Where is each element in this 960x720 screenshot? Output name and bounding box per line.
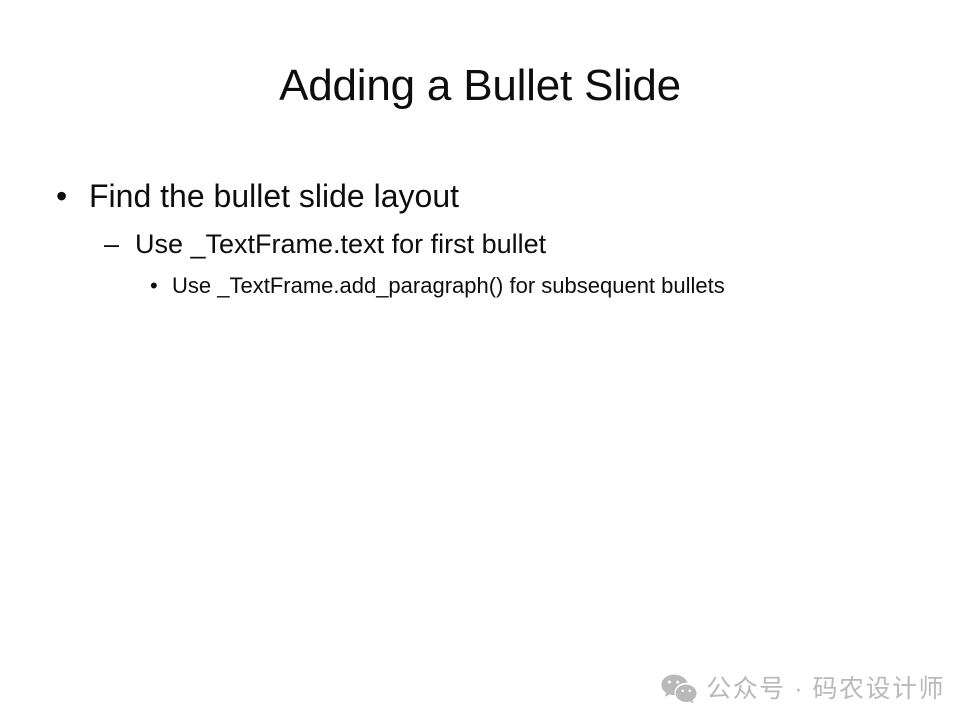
slide-canvas: Adding a Bullet Slide • Find the bullet …	[0, 0, 960, 720]
round-bullet-icon: •	[150, 271, 172, 301]
watermark-label: 公众号 · 码农设计师	[706, 674, 945, 704]
page-title: Adding a Bullet Slide	[60, 58, 900, 114]
list-item-label: Use _TextFrame.add_paragraph() for subse…	[172, 271, 820, 301]
wechat-icon	[661, 674, 697, 704]
dash-bullet-icon: –	[104, 227, 135, 262]
list-item: • Use _TextFrame.add_paragraph() for sub…	[150, 271, 822, 301]
list-item: – Use _TextFrame.text for first bullet	[104, 227, 856, 262]
watermark: 公众号 · 码农设计师	[661, 674, 945, 704]
list-item: • Find the bullet slide layout	[56, 176, 856, 216]
bullet-list: • Find the bullet slide layout – Use _Te…	[56, 176, 856, 301]
list-item-label: Find the bullet slide layout	[89, 176, 856, 216]
round-bullet-icon: •	[56, 176, 89, 216]
list-item-label: Use _TextFrame.text for first bullet	[135, 227, 856, 262]
